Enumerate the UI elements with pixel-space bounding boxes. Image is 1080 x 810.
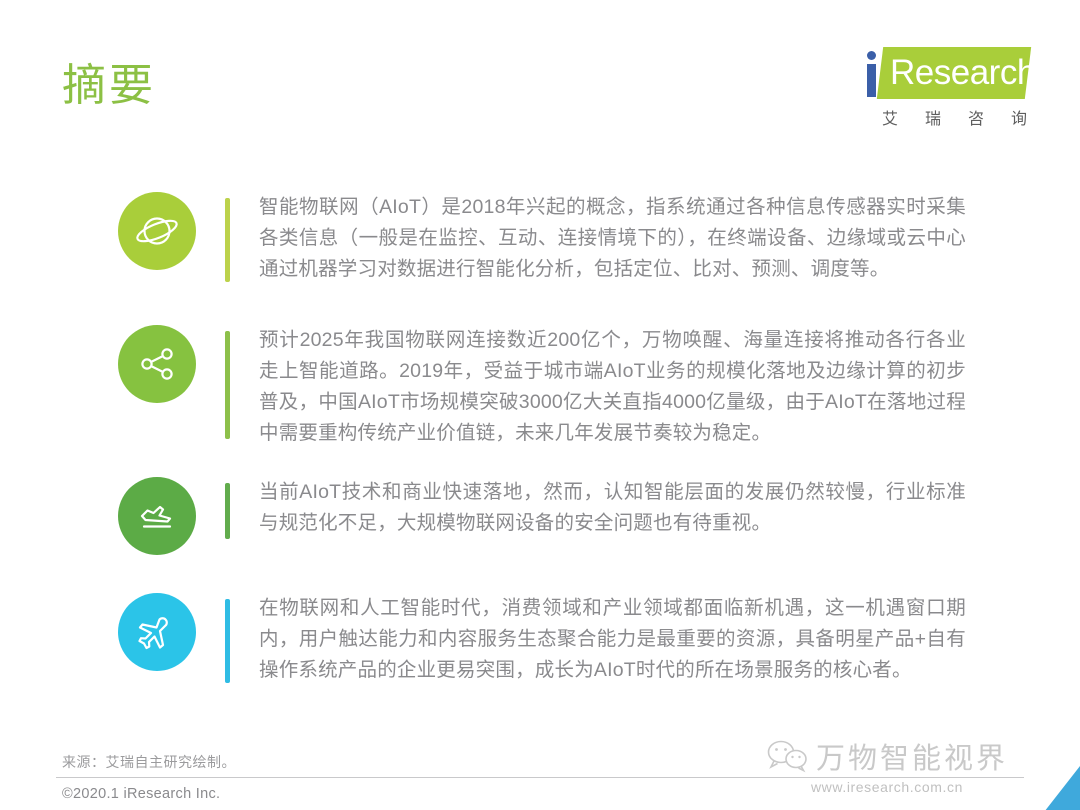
plane-takeoff-icon xyxy=(118,477,196,555)
row-divider xyxy=(225,599,230,683)
logo-i-stem-shape xyxy=(867,64,876,97)
planet-icon xyxy=(118,192,196,270)
summary-paragraph: 在物联网和人工智能时代，消费领域和产业领域都面临新机遇，这一机遇窗口期内，用户触… xyxy=(259,593,966,686)
logo-mark: Research xyxy=(856,45,1028,101)
page-number: 2 xyxy=(1042,759,1058,792)
iresearch-logo: Research 艾 瑞 咨 询 xyxy=(856,45,1028,130)
summary-item: 智能物联网（AIoT）是2018年兴起的概念，指系统通过各种信息传感器实时采集各… xyxy=(118,192,966,285)
page-title: 摘要 xyxy=(62,62,156,110)
logo-cn-char-3: 咨 xyxy=(968,105,985,129)
row-divider xyxy=(225,198,230,282)
summary-paragraph: 智能物联网（AIoT）是2018年兴起的概念，指系统通过各种信息传感器实时采集各… xyxy=(259,192,966,285)
logo-wordmark: Research xyxy=(890,54,1036,92)
row-divider xyxy=(225,331,230,439)
share-network-icon xyxy=(118,325,196,403)
airplane-icon xyxy=(118,593,196,671)
ribbon-blue xyxy=(1042,706,1080,810)
logo-i-dot-shape xyxy=(867,51,876,60)
copyright-text: ©2020.1 iResearch Inc. xyxy=(62,786,220,802)
source-note: 来源：艾瑞自主研究绘制。 xyxy=(62,752,236,772)
watermark-url: www.iresearch.com.cn xyxy=(811,779,963,795)
row-divider xyxy=(225,483,230,539)
logo-cn-char-1: 艾 xyxy=(882,105,899,129)
logo-cn-char-4: 询 xyxy=(1011,105,1028,129)
summary-item: 预计2025年我国物联网连接数近200亿个，万物唤醒、海量连接将推动各行各业走上… xyxy=(118,325,966,449)
wechat-icon xyxy=(766,739,810,773)
logo-cn-char-2: 瑞 xyxy=(925,105,942,129)
summary-item: 在物联网和人工智能时代，消费领域和产业领域都面临新机遇，这一机遇窗口期内，用户触… xyxy=(118,593,966,686)
summary-list: 智能物联网（AIoT）是2018年兴起的概念，指系统通过各种信息传感器实时采集各… xyxy=(118,192,966,686)
summary-item: 当前AIoT技术和商业快速落地，然而，认知智能层面的发展仍然较慢，行业标准与规范… xyxy=(118,477,966,555)
summary-paragraph: 当前AIoT技术和商业快速落地，然而，认知智能层面的发展仍然较慢，行业标准与规范… xyxy=(259,477,966,539)
logo-chinese-name: 艾 瑞 咨 询 xyxy=(882,105,1028,129)
corner-ribbons: 2 xyxy=(952,706,1080,810)
slide-root: 摘要 Research 艾 瑞 咨 询 智能物联网（AIoT）是2018年 xyxy=(0,0,1080,810)
summary-paragraph: 预计2025年我国物联网连接数近200亿个，万物唤醒、海量连接将推动各行各业走上… xyxy=(259,325,966,449)
